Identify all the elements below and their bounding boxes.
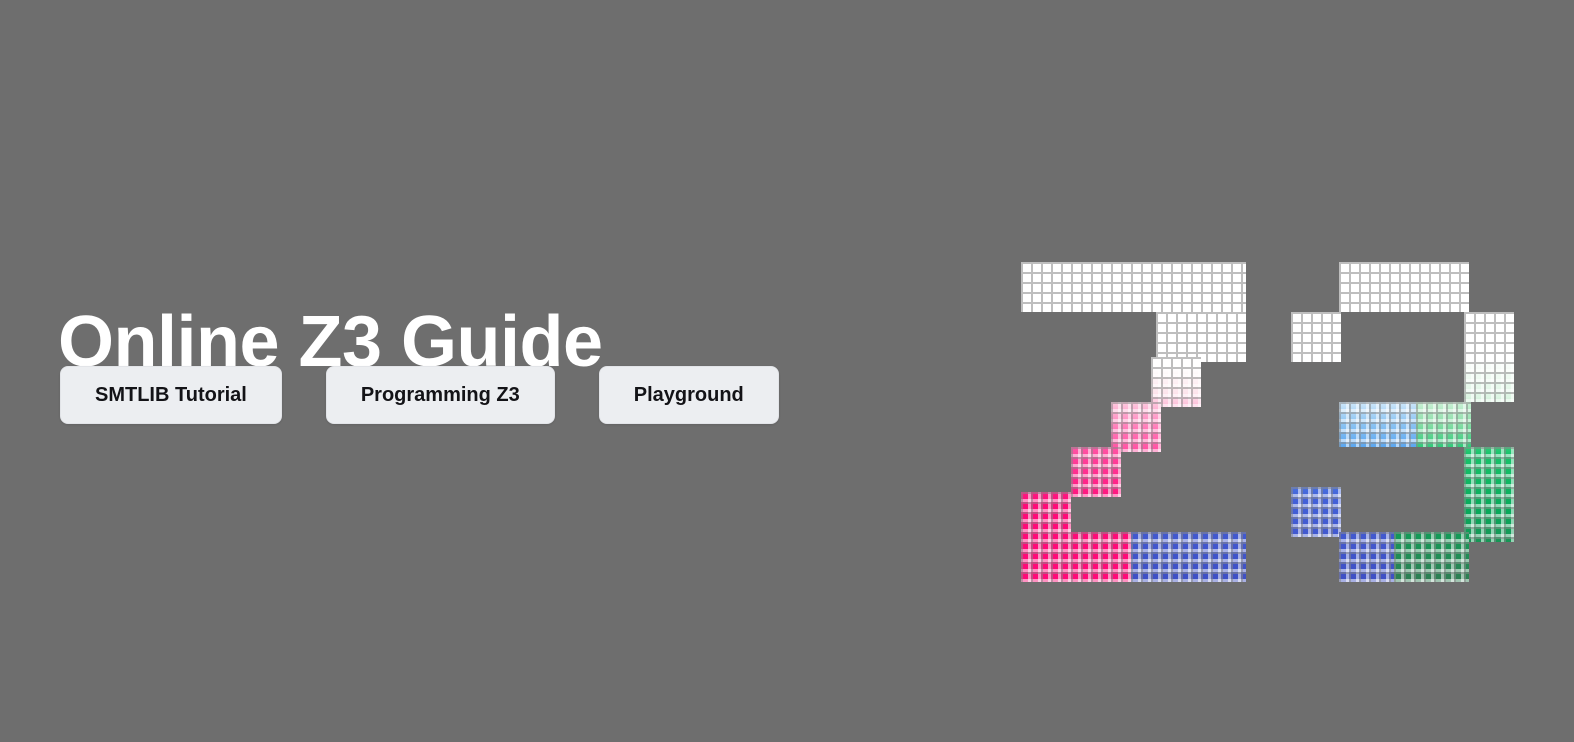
logo-block-3 (1416, 402, 1471, 447)
logo-block-3 (1339, 402, 1419, 447)
cta-button-row: SMTLIB Tutorial Programming Z3 Playgroun… (60, 366, 779, 424)
logo-block-z (1156, 312, 1246, 362)
programming-z3-button[interactable]: Programming Z3 (326, 366, 555, 424)
logo-block-3 (1394, 532, 1469, 582)
hero-section: Online Z3 Guide SMTLIB Tutorial Programm… (0, 0, 1574, 742)
z3-pixel-logo (1021, 262, 1514, 582)
logo-block-z (1131, 532, 1246, 582)
logo-block-3 (1291, 487, 1341, 537)
smtlib-tutorial-button[interactable]: SMTLIB Tutorial (60, 366, 282, 424)
logo-block-z (1111, 402, 1161, 452)
logo-block-3 (1464, 312, 1514, 402)
logo-block-z (1151, 357, 1201, 407)
logo-block-3 (1339, 532, 1397, 582)
logo-block-z (1071, 447, 1121, 497)
logo-block-z (1021, 532, 1136, 582)
logo-block-3 (1464, 447, 1514, 542)
logo-block-3 (1291, 312, 1341, 362)
logo-block-z (1021, 262, 1246, 312)
logo-block-3 (1339, 262, 1469, 312)
playground-button[interactable]: Playground (599, 366, 779, 424)
